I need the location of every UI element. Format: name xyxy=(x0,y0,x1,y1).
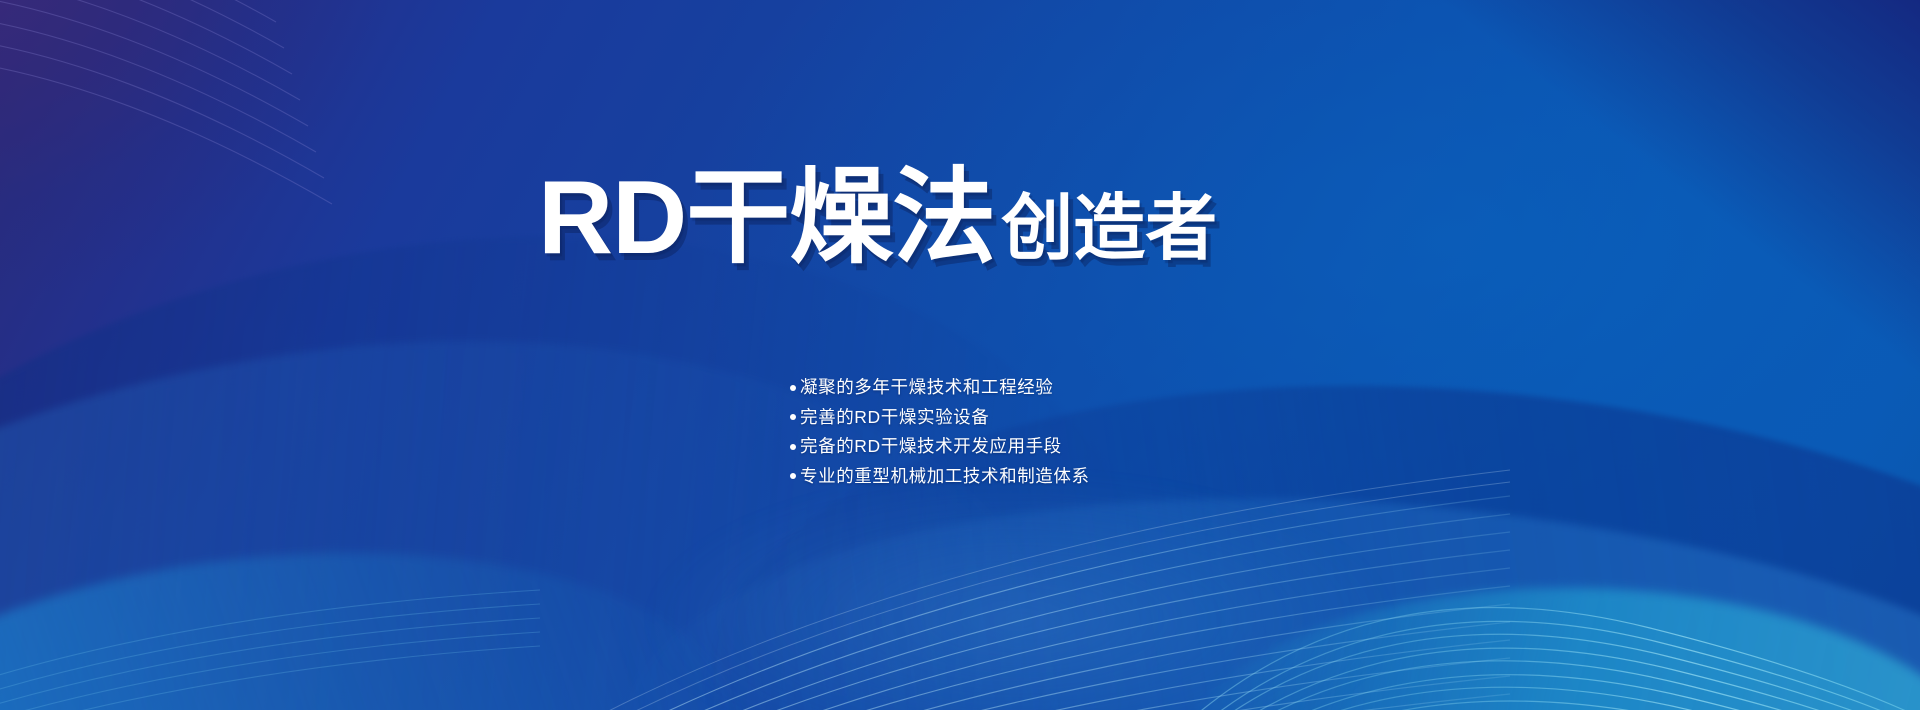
hero-banner: RD干燥法创造者 凝聚的多年干燥技术和工程经验 完善的RD干燥实验设备 完备的R… xyxy=(0,0,1920,710)
list-item-label: 专业的重型机械加工技术和制造体系 xyxy=(800,468,1090,486)
list-item: 凝聚的多年干燥技术和工程经验 xyxy=(790,379,1090,397)
bullet-dot-icon xyxy=(790,385,796,391)
page-title: RD干燥法创造者 xyxy=(538,166,1217,270)
feature-bullet-list: 凝聚的多年干燥技术和工程经验 完善的RD干燥实验设备 完备的RD干燥技术开发应用… xyxy=(790,379,1090,485)
banner-content: RD干燥法创造者 凝聚的多年干燥技术和工程经验 完善的RD干燥实验设备 完备的R… xyxy=(0,0,1920,710)
list-item-label: 凝聚的多年干燥技术和工程经验 xyxy=(800,379,1053,397)
list-item: 完善的RD干燥实验设备 xyxy=(790,409,1090,427)
list-item: 专业的重型机械加工技术和制造体系 xyxy=(790,468,1090,486)
bullet-dot-icon xyxy=(790,473,796,479)
list-item: 完备的RD干燥技术开发应用手段 xyxy=(790,438,1090,456)
headline-sub-text: 创造者 xyxy=(1001,189,1217,269)
bullet-dot-icon xyxy=(790,444,796,450)
list-item-label: 完善的RD干燥实验设备 xyxy=(800,409,989,427)
bullet-dot-icon xyxy=(790,414,796,420)
headline-main-text: RD干燥法 xyxy=(538,160,995,276)
list-item-label: 完备的RD干燥技术开发应用手段 xyxy=(800,438,1062,456)
